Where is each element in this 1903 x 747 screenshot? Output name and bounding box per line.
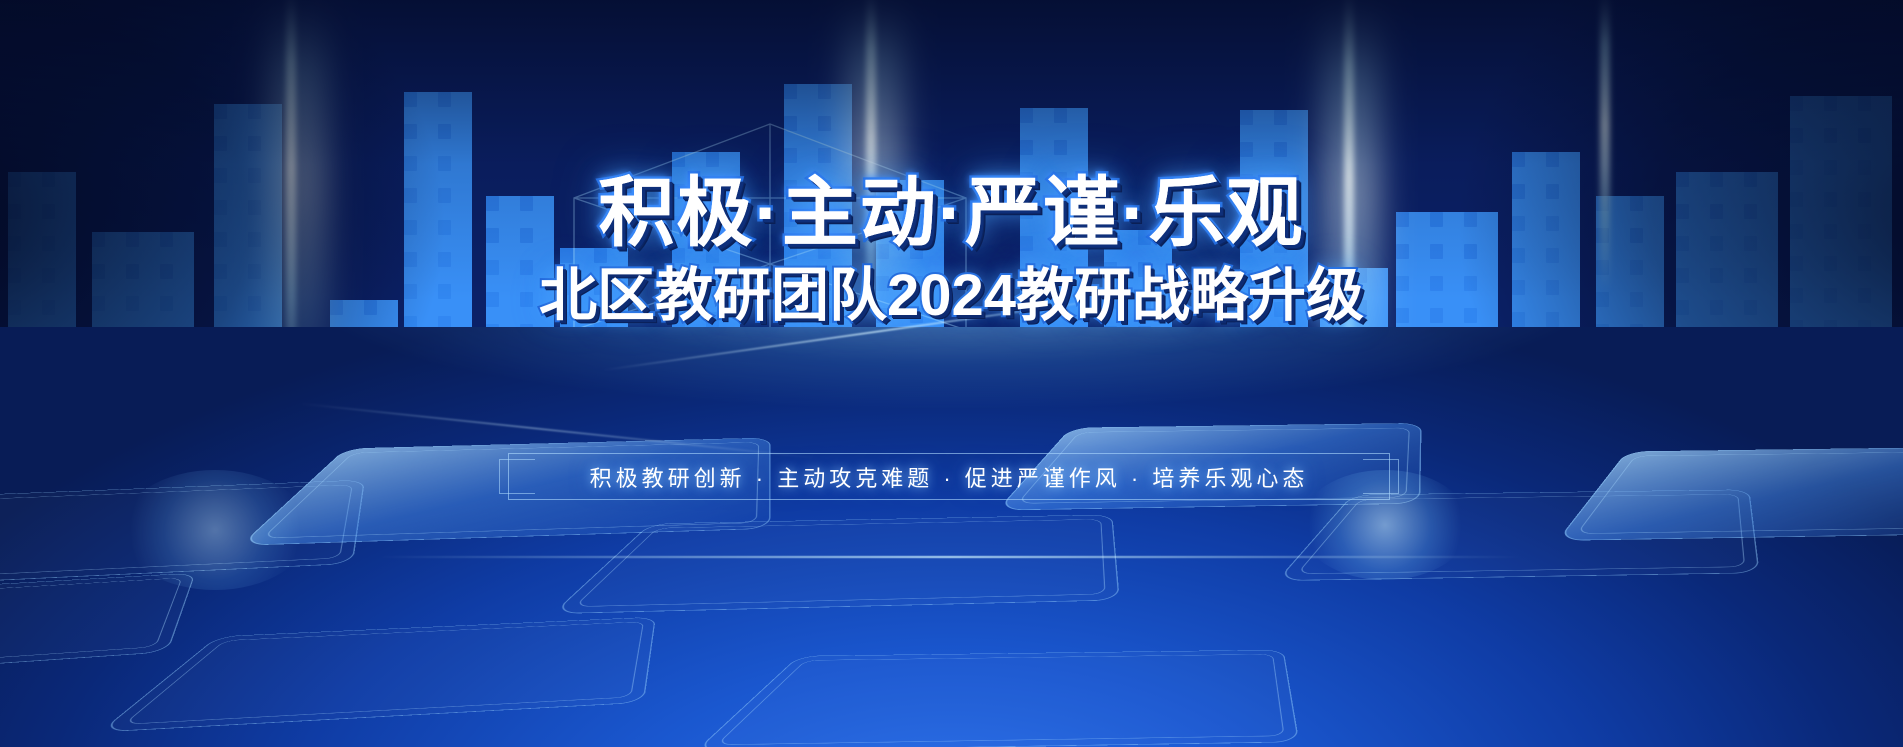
floor-tile-inner-border xyxy=(123,621,644,724)
floor-tile-inner-border xyxy=(574,519,1106,607)
window-cell xyxy=(672,152,685,167)
window-cell xyxy=(1858,160,1871,175)
floor-tile-8 xyxy=(694,650,1299,747)
floor-tile-6 xyxy=(1557,446,1903,540)
floor-tile-inner-border xyxy=(716,654,1285,745)
window-cell xyxy=(1054,108,1067,123)
window-cell xyxy=(1790,96,1803,111)
window-cell xyxy=(1790,160,1803,175)
promo-banner: 积极·主动·严谨·乐观 北区教研团队2024教研战略升级 积极教研创新 · 主动… xyxy=(0,0,1903,747)
window-cell xyxy=(1824,96,1837,111)
floor-tile-9 xyxy=(0,573,196,683)
window-cell xyxy=(438,124,451,139)
window-cell xyxy=(404,156,417,171)
window-cell xyxy=(1020,108,1033,123)
window-cell xyxy=(214,136,227,151)
window-cell xyxy=(214,104,227,119)
window-cell xyxy=(438,92,451,107)
window-cell xyxy=(818,84,831,99)
window-cell xyxy=(818,148,831,163)
window-cell xyxy=(1512,152,1525,167)
window-cell xyxy=(404,124,417,139)
window-cell xyxy=(1274,110,1287,125)
tagline-panel: 积极教研创新 · 主动攻克难题 · 促进严谨作风 · 培养乐观心态 xyxy=(508,453,1390,500)
window-cell xyxy=(818,116,831,131)
window-cell xyxy=(1020,140,1033,155)
window-cell xyxy=(1790,128,1803,143)
window-cell xyxy=(404,92,417,107)
tagline-text: 积极教研创新 · 主动攻克难题 · 促进严谨作风 · 培养乐观心态 xyxy=(508,453,1390,500)
window-cell xyxy=(438,156,451,171)
window-cell xyxy=(1824,128,1837,143)
window-cell xyxy=(1546,152,1559,167)
window-cell xyxy=(248,136,261,151)
banner-title-secondary: 北区教研团队2024教研战略升级 xyxy=(0,267,1903,325)
floor-tile-7 xyxy=(99,617,656,733)
window-cell xyxy=(1858,128,1871,143)
window-cell xyxy=(1240,142,1253,157)
floor-tile-inner-border xyxy=(0,578,182,675)
window-cell xyxy=(1824,160,1837,175)
window-cell xyxy=(784,116,797,131)
light-orb-left xyxy=(120,470,310,590)
window-cell xyxy=(784,148,797,163)
window-cell xyxy=(1054,140,1067,155)
window-cell xyxy=(438,252,451,267)
window-cell xyxy=(1274,142,1287,157)
window-cell xyxy=(1240,110,1253,125)
window-cell xyxy=(404,252,417,267)
window-cell xyxy=(784,84,797,99)
window-cell xyxy=(706,152,719,167)
window-cell xyxy=(1858,96,1871,111)
banner-title-primary: 积极·主动·严谨·乐观 xyxy=(0,176,1903,252)
window-cell xyxy=(248,104,261,119)
floor-tile-inner-border xyxy=(1576,451,1903,534)
